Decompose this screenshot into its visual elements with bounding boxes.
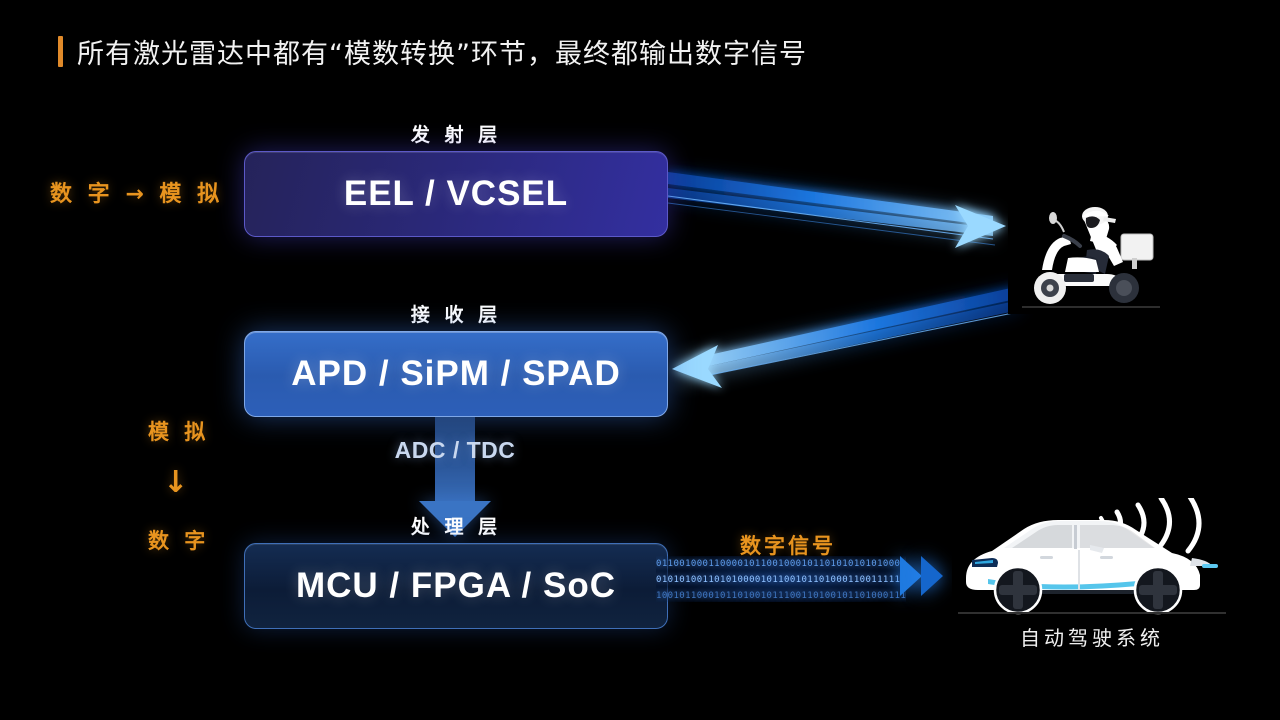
receiving-layer-box[interactable]: APD / SiPM / SPAD [244, 331, 668, 417]
binary-data-stream: 0110010001100001011001000101101010101010… [656, 556, 906, 602]
page-title: 所有激光雷达中都有“模数转换”环节，最终都输出数字信号 [58, 32, 807, 71]
emission-layer-caption: 发 射 层 [244, 120, 668, 147]
autonomous-car-illustration [952, 498, 1232, 618]
outgoing-laser-beam [668, 170, 1006, 248]
label-digital-to-analog: 数 字 → 模 拟 [50, 176, 223, 208]
car-caption: 自动驾驶系统 [952, 622, 1232, 651]
binary-row: 1001011000101101001011100110100101101000… [656, 588, 906, 602]
title-text: 所有激光雷达中都有“模数转换”环节，最终都输出数字信号 [77, 32, 807, 71]
scooter-rider-illustration [1008, 196, 1174, 314]
binary-row: 0110010001100001011001000101101010101010… [656, 556, 906, 572]
chevron-right-icon [900, 556, 922, 596]
emission-layer-components: EEL / VCSEL [344, 174, 568, 214]
processing-layer-box[interactable]: MCU / FPGA / SoC [244, 543, 668, 629]
returning-laser-beam [672, 285, 1020, 388]
processing-layer-components: MCU / FPGA / SoC [296, 566, 616, 606]
slide-canvas: 所有激光雷达中都有“模数转换”环节，最终都输出数字信号 数 字 → 模 拟 模 … [0, 0, 1280, 720]
emission-layer-box[interactable]: EEL / VCSEL [244, 151, 668, 237]
adc-tdc-label: ADC / TDC [380, 437, 530, 464]
binary-row: 0101010011010100001011001011010001100111… [656, 572, 906, 588]
label-digital: 数 字 [148, 525, 209, 555]
title-accent-bar [58, 36, 63, 67]
receiving-layer-caption: 接 收 层 [244, 300, 668, 327]
label-analog: 模 拟 [148, 416, 209, 446]
receiving-layer-components: APD / SiPM / SPAD [291, 354, 620, 394]
down-arrow-icon: ↓ [163, 468, 192, 498]
processing-layer-caption: 处 理 层 [244, 512, 668, 539]
chevron-right-icon [921, 556, 943, 596]
